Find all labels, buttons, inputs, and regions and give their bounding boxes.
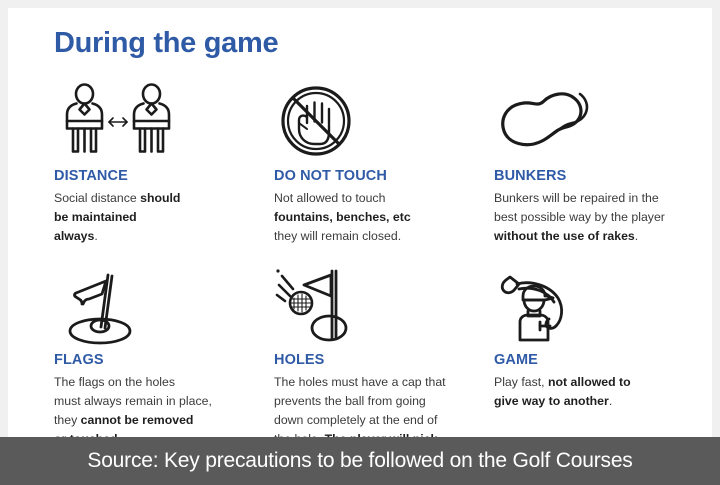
body-line: be maintained [54, 208, 256, 227]
body-line: Play fast, not allowed to [494, 373, 696, 392]
body-line: must always remain in place, [54, 392, 256, 411]
body-line: they cannot be removed [54, 411, 256, 430]
precautions-grid: DISTANCE Social distance shouldbe mainta… [54, 78, 712, 458]
card-do-not-touch: DO NOT TOUCH Not allowed to touchfountai… [274, 78, 494, 246]
body-line: Not allowed to touch [274, 189, 476, 208]
body-line: fountains, benches, etc [274, 208, 476, 227]
card-bunkers: BUNKERS Bunkers will be repaired in theb… [494, 78, 712, 246]
golf-ball-flag-hole-icon [274, 265, 374, 351]
icon-container-game [494, 268, 696, 348]
body-line: they will remain closed. [274, 227, 476, 246]
card-title-bunkers: BUNKERS [494, 168, 696, 184]
card-title-distance: DISTANCE [54, 168, 256, 184]
card-body-do-not-touch: Not allowed to touchfountains, benches, … [274, 189, 476, 246]
two-people-distance-icon [54, 81, 182, 161]
icon-container-holes [274, 268, 476, 348]
bunker-shape-icon [494, 81, 604, 161]
body-line: down completely at the end of [274, 411, 476, 430]
icon-container-do-not-touch [274, 78, 476, 164]
card-flags: FLAGS The flags on the holesmust always … [54, 268, 274, 449]
icon-container-bunkers [494, 78, 696, 164]
body-line: The holes must have a cap that [274, 373, 476, 392]
precautions-row-1: DISTANCE Social distance shouldbe mainta… [54, 78, 712, 268]
card-game: GAME Play fast, not allowed togive way t… [494, 268, 712, 411]
body-line: give way to another. [494, 392, 696, 411]
icon-container-distance [54, 78, 256, 164]
card-title-do-not-touch: DO NOT TOUCH [274, 168, 476, 184]
source-caption-bar: Source: Key precautions to be followed o… [0, 437, 720, 485]
body-line: Bunkers will be repaired in the [494, 189, 696, 208]
no-touch-hand-icon [274, 81, 364, 161]
body-line: prevents the ball from going [274, 392, 476, 411]
body-line: always. [54, 227, 256, 246]
card-distance: DISTANCE Social distance shouldbe mainta… [54, 78, 274, 246]
card-title-flags: FLAGS [54, 352, 256, 368]
body-line: The flags on the holes [54, 373, 256, 392]
card-body-game: Play fast, not allowed togive way to ano… [494, 373, 696, 411]
precautions-row-2: FLAGS The flags on the holesmust always … [54, 268, 712, 458]
card-title-holes: HOLES [274, 352, 476, 368]
slide-card: During the game [8, 8, 712, 485]
screenshot-frame: During the game [0, 0, 720, 485]
golf-flag-green-icon [54, 269, 154, 347]
icon-container-flags [54, 268, 256, 348]
body-line: Social distance should [54, 189, 256, 208]
card-body-bunkers: Bunkers will be repaired in thebest poss… [494, 189, 696, 246]
card-body-distance: Social distance shouldbe maintainedalway… [54, 189, 256, 246]
body-line: without the use of rakes. [494, 227, 696, 246]
golfer-swing-icon [494, 268, 590, 348]
card-title-game: GAME [494, 352, 696, 368]
body-line: best possible way by the player [494, 208, 696, 227]
page-title: During the game [54, 28, 278, 60]
source-caption-text: Source: Key precautions to be followed o… [87, 449, 632, 473]
